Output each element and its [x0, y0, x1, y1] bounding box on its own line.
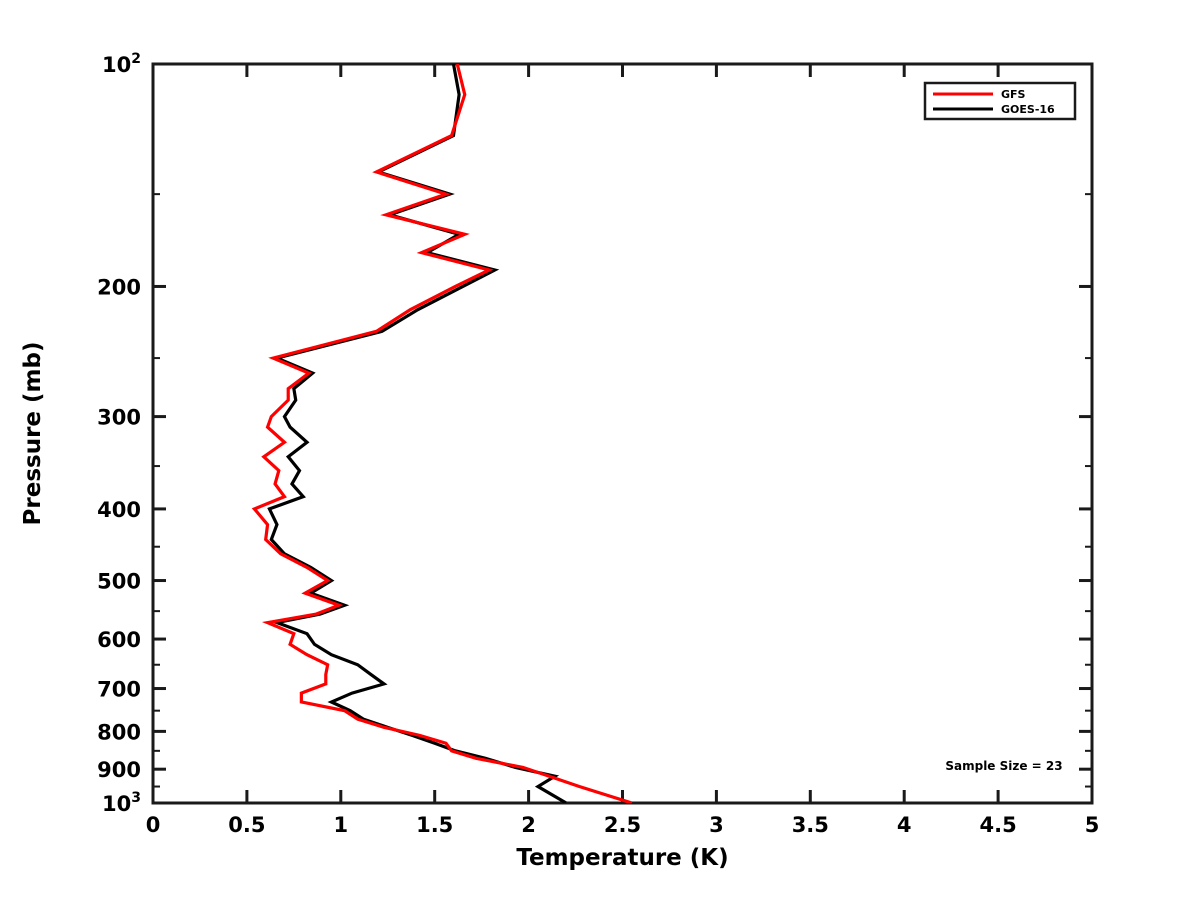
sample-size-annotation: Sample Size = 23 [945, 759, 1062, 773]
y-axis-title: Pressure (mb) [20, 342, 46, 526]
y-tick-label: 500 [97, 570, 141, 594]
x-tick-label: 3.5 [792, 813, 829, 837]
x-axis-title: Temperature (K) [516, 845, 728, 871]
x-tick-label: 4 [897, 813, 912, 837]
y-tick-label: 900 [97, 758, 141, 782]
y-tick-label: 200 [97, 275, 141, 299]
x-tick-label: 0.5 [228, 813, 265, 837]
x-tick-label: 2.5 [604, 813, 641, 837]
x-tick-label: 2 [521, 813, 536, 837]
y-tick-label: 700 [97, 678, 141, 702]
y-tick-label: 300 [97, 406, 141, 430]
x-tick-label: 0 [146, 813, 161, 837]
x-tick-label: 4.5 [979, 813, 1016, 837]
legend-label-goes-16: GOES-16 [1001, 103, 1055, 116]
y-tick-label: 400 [97, 498, 141, 522]
temperature-rms-profile-chart: 102200300400500600700800900103 00.511.52… [0, 0, 1200, 900]
y-tick-label: 800 [97, 720, 141, 744]
x-tick-label: 1 [333, 813, 348, 837]
x-tick-label: 3 [709, 813, 724, 837]
legend-label-gfs: GFS [1001, 88, 1026, 101]
figure-container: Clear COUNS Seasonal Temperature RMS ove… [0, 0, 1200, 900]
legend[interactable]: GFSGOES-16 [925, 83, 1075, 119]
x-tick-label: 1.5 [416, 813, 453, 837]
x-tick-label: 5 [1085, 813, 1100, 837]
y-tick-label: 600 [97, 628, 141, 652]
